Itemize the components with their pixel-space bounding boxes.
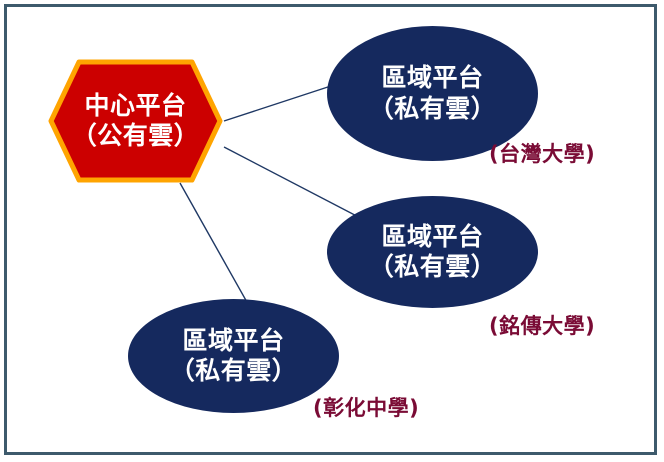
region-platform-1-label-line2: （私有雲） bbox=[369, 94, 497, 125]
connector-center-to-region-1 bbox=[224, 84, 337, 121]
region-platform-2-caption: (銘傳大學) bbox=[489, 310, 595, 340]
center-platform-label-line1: 中心平台 bbox=[84, 91, 186, 122]
region-platform-3-label-line1: 區域平台 bbox=[182, 326, 284, 357]
region-platform-1-caption: (台灣大學) bbox=[489, 138, 595, 168]
region-platform-2-label-line1: 區域平台 bbox=[381, 222, 483, 253]
diagram-canvas: 中心平台 （公有雲） 區域平台 （私有雲） 區域平台 （私有雲） 區域平台 （私… bbox=[0, 0, 664, 462]
region-platform-1-label-line1: 區域平台 bbox=[381, 63, 483, 94]
connector-center-to-region-2 bbox=[224, 147, 372, 224]
region-platform-3-caption: (彰化中學) bbox=[313, 392, 419, 422]
region-platform-3-label-line2: （私有雲） bbox=[170, 356, 298, 387]
region-platform-2-label-line2: （私有雲） bbox=[369, 252, 497, 283]
region-platform-node-2[interactable]: 區域平台 （私有雲） bbox=[327, 196, 538, 308]
center-platform-label-line2: （公有雲） bbox=[72, 121, 200, 152]
center-platform-node[interactable]: 中心平台 （公有雲） bbox=[48, 59, 223, 183]
region-platform-node-3[interactable]: 區域平台 （私有雲） bbox=[128, 299, 339, 413]
